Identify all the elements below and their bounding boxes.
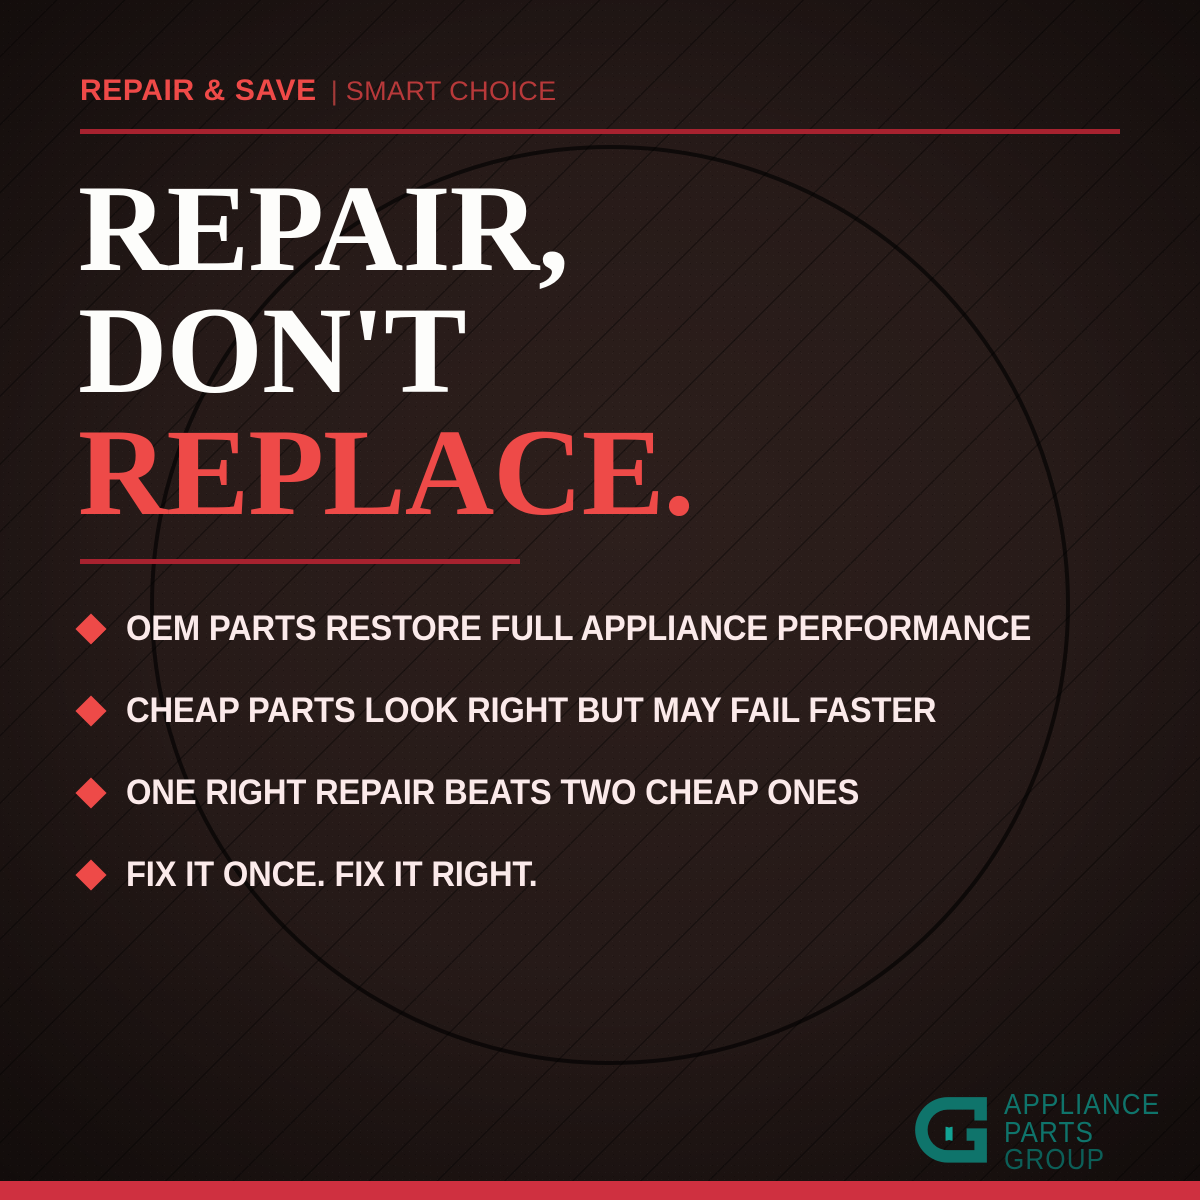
list-item: ONE RIGHT REPAIR BEATS TWO CHEAP ONES bbox=[78, 752, 1148, 834]
list-item-label: FIX IT ONCE. FIX IT RIGHT. bbox=[126, 855, 537, 895]
brand-wordmark: APPLIANCE PARTS GROUP bbox=[1004, 1092, 1178, 1174]
g-monogram-icon bbox=[912, 1094, 990, 1172]
list-item: OEM PARTS RESTORE FULL APPLIANCE PERFORM… bbox=[78, 588, 1148, 670]
page-title: REPAIR, DON'T REPLACE. bbox=[78, 168, 694, 534]
diamond-bullet-icon bbox=[75, 695, 106, 726]
list-item-label: OEM PARTS RESTORE FULL APPLIANCE PERFORM… bbox=[126, 609, 1031, 649]
eyebrow-main-text: REPAIR & SAVE bbox=[80, 74, 317, 108]
brand-line-1: APPLIANCE bbox=[1004, 1092, 1160, 1119]
headline-line-2: DON'T bbox=[78, 290, 694, 412]
diamond-bullet-icon bbox=[75, 777, 106, 808]
brand-logo: APPLIANCE PARTS GROUP bbox=[912, 1092, 1178, 1174]
promo-poster: REPAIR & SAVE | SMART CHOICE REPAIR, DON… bbox=[0, 0, 1200, 1200]
benefit-list: OEM PARTS RESTORE FULL APPLIANCE PERFORM… bbox=[78, 588, 1148, 916]
eyebrow-sub-text: SMART CHOICE bbox=[346, 76, 557, 107]
diamond-bullet-icon bbox=[75, 859, 106, 890]
header-divider-rule bbox=[80, 129, 1120, 134]
brand-line-3: GROUP bbox=[1004, 1147, 1160, 1174]
brand-line-2: PARTS bbox=[1004, 1120, 1160, 1147]
headline-line-3: REPLACE. bbox=[78, 412, 694, 534]
headline-divider-rule bbox=[80, 559, 520, 564]
diamond-bullet-icon bbox=[75, 613, 106, 644]
bottom-accent-strip bbox=[0, 1181, 1200, 1200]
list-item: CHEAP PARTS LOOK RIGHT BUT MAY FAIL FAST… bbox=[78, 670, 1148, 752]
headline-line-1: REPAIR, bbox=[78, 168, 694, 290]
eyebrow-separator-icon: | bbox=[317, 76, 346, 107]
list-item-label: CHEAP PARTS LOOK RIGHT BUT MAY FAIL FAST… bbox=[126, 691, 936, 731]
list-item-label: ONE RIGHT REPAIR BEATS TWO CHEAP ONES bbox=[126, 773, 859, 813]
eyebrow-header: REPAIR & SAVE | SMART CHOICE bbox=[80, 74, 557, 108]
list-item: FIX IT ONCE. FIX IT RIGHT. bbox=[78, 834, 1148, 916]
